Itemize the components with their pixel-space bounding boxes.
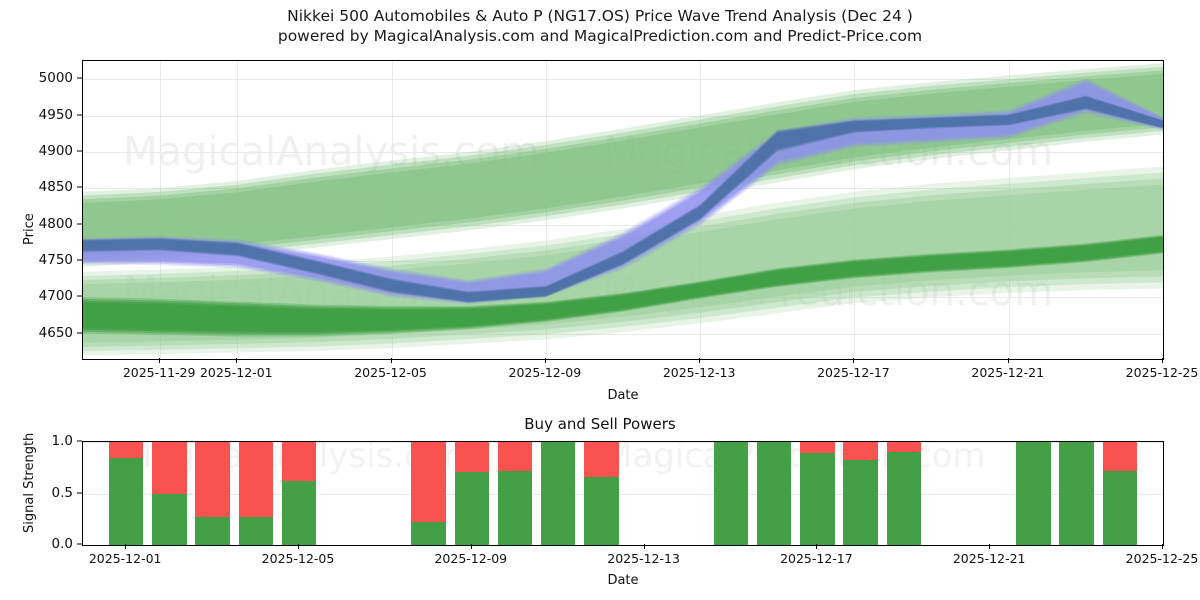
x-axis-tick-label: 2025-12-09 bbox=[434, 551, 507, 566]
sell-power-segment bbox=[152, 442, 187, 494]
signal-bar[interactable] bbox=[152, 442, 187, 545]
buy-power-segment bbox=[541, 442, 576, 545]
signal-bar[interactable] bbox=[411, 442, 446, 545]
y-axis-tick-label: 4850 bbox=[39, 179, 73, 195]
buy-sell-title: Buy and Sell Powers bbox=[0, 415, 1200, 433]
buy-power-segment bbox=[411, 522, 446, 545]
x-axis-tick-label: 2025-12-09 bbox=[509, 365, 582, 380]
watermark-text: MagicalPrediction.com bbox=[603, 441, 986, 476]
x-axis-tick-label: 2025-12-21 bbox=[953, 551, 1026, 566]
signal-bar[interactable] bbox=[541, 442, 576, 545]
x-axis-tick-label: 2025-12-17 bbox=[817, 365, 890, 380]
x-axis-tick-label: 2025-12-13 bbox=[607, 551, 680, 566]
buy-power-segment bbox=[498, 471, 533, 545]
sell-power-segment bbox=[498, 442, 533, 471]
y-axis-tick-label: 4950 bbox=[39, 107, 73, 123]
y-axis-tick-mark bbox=[77, 492, 82, 493]
sell-power-segment bbox=[843, 442, 878, 460]
x-axis-tick-label: 2025-12-01 bbox=[200, 365, 273, 380]
sell-power-segment bbox=[455, 442, 490, 472]
x-axis-tick-label: 2025-12-01 bbox=[89, 551, 162, 566]
y-axis-tick-mark bbox=[77, 78, 82, 79]
x-axis-tick-mark bbox=[1008, 358, 1009, 363]
x-axis-tick-mark bbox=[1162, 358, 1163, 363]
buy-power-segment bbox=[109, 458, 144, 545]
x-axis-tick-mark bbox=[236, 358, 237, 363]
y-axis-tick-mark bbox=[77, 187, 82, 188]
x-axis-tick-mark bbox=[391, 358, 392, 363]
sell-power-segment bbox=[800, 442, 835, 453]
y-axis-tick-mark bbox=[77, 259, 82, 260]
y-axis-tick-label: 4800 bbox=[39, 216, 73, 232]
buy-power-segment bbox=[757, 442, 792, 545]
gridline-vertical bbox=[1163, 61, 1164, 359]
y-axis-tick-label: 4700 bbox=[39, 288, 73, 304]
x-axis-tick-mark bbox=[1162, 544, 1163, 549]
sell-power-segment bbox=[411, 442, 446, 522]
buy-power-segment bbox=[1059, 442, 1094, 545]
x-axis-tick-label: 2025-12-25 bbox=[1126, 551, 1199, 566]
x-axis-tick-label: 2025-12-05 bbox=[262, 551, 335, 566]
sell-power-segment bbox=[239, 442, 274, 517]
buy-power-segment bbox=[1103, 471, 1138, 545]
x-axis-tick-mark bbox=[125, 544, 126, 549]
buy-power-segment bbox=[195, 517, 230, 545]
x-axis-tick-label: 2025-12-21 bbox=[971, 365, 1044, 380]
x-axis-tick-mark bbox=[298, 544, 299, 549]
signal-bar[interactable] bbox=[1016, 442, 1051, 545]
sell-power-segment bbox=[584, 442, 619, 477]
x-axis-tick-label: 2025-11-29 bbox=[123, 365, 196, 380]
y-axis-tick-mark bbox=[77, 332, 82, 333]
x-axis-tick-mark bbox=[159, 358, 160, 363]
signal-bar[interactable] bbox=[887, 442, 922, 545]
x-axis-tick-mark bbox=[699, 358, 700, 363]
buy-power-segment bbox=[843, 460, 878, 545]
y-axis-tick-label: 4650 bbox=[39, 325, 73, 341]
x-axis-tick-mark bbox=[644, 544, 645, 549]
x-axis-tick-mark bbox=[853, 358, 854, 363]
y-axis-tick-mark bbox=[77, 296, 82, 297]
x-axis-tick-mark bbox=[989, 544, 990, 549]
sell-power-segment bbox=[1103, 442, 1138, 471]
buy-power-segment bbox=[584, 477, 619, 545]
x-axis-tick-label: 2025-12-05 bbox=[354, 365, 427, 380]
x-axis-tick-label: 2025-12-17 bbox=[780, 551, 853, 566]
x-axis-tick-mark bbox=[545, 358, 546, 363]
gridline-horizontal bbox=[83, 545, 1163, 546]
buy-power-segment bbox=[887, 452, 922, 545]
signal-bar[interactable] bbox=[1059, 442, 1094, 545]
buy-power-segment bbox=[239, 517, 274, 545]
signal-bar[interactable] bbox=[195, 442, 230, 545]
buy-power-segment bbox=[282, 481, 317, 545]
buy-sell-x-axis-label: Date bbox=[82, 573, 1164, 588]
y-axis-tick-mark bbox=[77, 544, 82, 545]
signal-bar[interactable] bbox=[239, 442, 274, 545]
signal-strength-axis-label: Signal Strength bbox=[22, 433, 37, 533]
y-axis-tick-mark bbox=[77, 223, 82, 224]
buy-power-segment bbox=[1016, 442, 1051, 545]
signal-bar[interactable] bbox=[800, 442, 835, 545]
chart-page: Nikkei 500 Automobiles & Auto P (NG17.OS… bbox=[0, 0, 1200, 600]
price-wave-panel: Price MagicalAnalysis.comMagicalPredicti… bbox=[0, 0, 1200, 405]
price-plot-area: MagicalAnalysis.comMagicalPrediction.com… bbox=[82, 60, 1164, 360]
x-axis-tick-mark bbox=[816, 544, 817, 549]
y-axis-tick-label: 1.0 bbox=[52, 433, 73, 449]
signal-bar[interactable] bbox=[843, 442, 878, 545]
sell-power-segment bbox=[887, 442, 922, 452]
sell-power-segment bbox=[195, 442, 230, 517]
sell-power-segment bbox=[109, 442, 144, 458]
sell-power-segment bbox=[282, 442, 317, 481]
price-axis-label: Price bbox=[22, 213, 37, 245]
buy-power-segment bbox=[714, 442, 749, 545]
buy-sell-plot-area: MagicalAnalysis.comMagicalPrediction.com bbox=[82, 441, 1164, 546]
signal-bar[interactable] bbox=[498, 442, 533, 545]
price-x-axis-label: Date bbox=[82, 388, 1164, 403]
y-axis-tick-label: 0.0 bbox=[52, 536, 73, 552]
signal-bar[interactable] bbox=[714, 442, 749, 545]
y-axis-tick-label: 4900 bbox=[39, 143, 73, 159]
signal-bar[interactable] bbox=[109, 442, 144, 545]
signal-bar[interactable] bbox=[757, 442, 792, 545]
buy-power-segment bbox=[455, 472, 490, 545]
y-axis-tick-label: 0.5 bbox=[52, 485, 73, 501]
y-axis-tick-mark bbox=[77, 114, 82, 115]
signal-bar[interactable] bbox=[584, 442, 619, 545]
buy-power-segment bbox=[152, 494, 187, 546]
y-axis-tick-mark bbox=[77, 150, 82, 151]
signal-bar[interactable] bbox=[1103, 442, 1138, 545]
x-axis-tick-label: 2025-12-13 bbox=[663, 365, 736, 380]
y-axis-tick-label: 5000 bbox=[39, 70, 73, 86]
x-axis-tick-label: 2025-12-25 bbox=[1126, 365, 1199, 380]
signal-bar[interactable] bbox=[282, 442, 317, 545]
buy-power-segment bbox=[800, 453, 835, 545]
y-axis-tick-label: 4750 bbox=[39, 252, 73, 268]
buy-sell-powers-panel: Buy and Sell Powers Signal Strength Magi… bbox=[0, 405, 1200, 600]
y-axis-tick-mark bbox=[77, 441, 82, 442]
signal-bar[interactable] bbox=[455, 442, 490, 545]
x-axis-tick-mark bbox=[471, 544, 472, 549]
price-wave-bands bbox=[83, 61, 1163, 359]
